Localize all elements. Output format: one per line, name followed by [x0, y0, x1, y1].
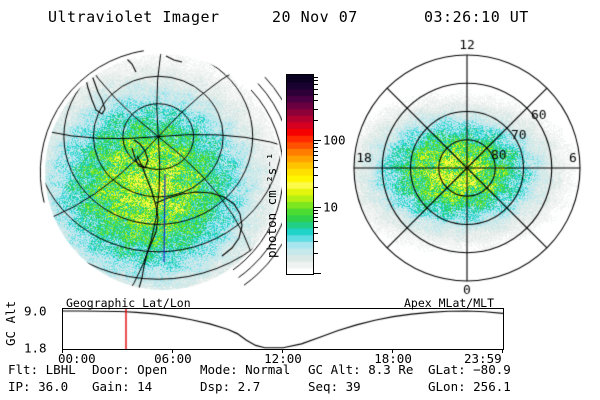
- parameter-value: Normal: [245, 362, 290, 377]
- colorbar-tick: [314, 241, 318, 242]
- parameter-cell: Flt: LBHL: [8, 362, 92, 379]
- colorbar-tick: [314, 140, 321, 141]
- parameter-value: −80.9: [473, 362, 511, 377]
- parameter-row: IP: 36.0Gain: 14Dsp: 2.7Seq: 39GLon: 256…: [8, 379, 511, 396]
- colorbar-axis-label: photon cm⁻²s⁻¹: [262, 90, 280, 260]
- parameter-cell: Door: Open: [92, 362, 200, 379]
- colorbar-tick: [314, 94, 318, 95]
- colorbar-tick: [314, 187, 318, 188]
- colorbar-tick: [314, 89, 318, 90]
- colorbar-tick: [314, 207, 321, 208]
- colorbar-tick: [314, 160, 318, 161]
- colorbar-tick: [314, 100, 318, 101]
- parameter-panel: Flt: LBHLDoor: OpenMode: NormalGC Alt: 8…: [8, 362, 511, 396]
- geographic-polar-plot: [0, 46, 282, 296]
- orbit-altitude-chart: [62, 308, 504, 350]
- colorbar-tick-label: 10: [323, 199, 338, 214]
- parameter-cell: Dsp: 2.7: [200, 379, 308, 396]
- parameter-value: 256.1: [473, 379, 511, 394]
- orbit-x-tick: [282, 349, 283, 353]
- colorbar-tick: [314, 167, 318, 168]
- colorbar-tick: [314, 77, 318, 78]
- orbit-x-tick: [502, 349, 503, 353]
- colorbar-tick-label: 100: [323, 133, 346, 148]
- parameter-label: Mode:: [200, 362, 245, 377]
- parameter-cell: Mode: Normal: [200, 362, 308, 379]
- colorbar-tick: [314, 147, 318, 148]
- parameter-cell: GLat: −80.9: [428, 362, 511, 379]
- colorbar-tick: [314, 151, 318, 152]
- parameter-value: 36.0: [38, 379, 68, 394]
- colorbar-gradient: [286, 74, 314, 275]
- colorbar-tick: [314, 217, 318, 218]
- orbit-x-tick: [392, 349, 393, 353]
- parameter-value: 2.7: [238, 379, 261, 394]
- orbit-x-tick: [62, 349, 63, 353]
- parameter-cell: IP: 36.0: [8, 379, 92, 396]
- colorbar-tick: [314, 233, 318, 234]
- orbit-y-tick-label: 1.8: [24, 341, 47, 356]
- parameter-table: Flt: LBHLDoor: OpenMode: NormalGC Alt: 8…: [8, 362, 511, 396]
- parameter-value: 39: [346, 379, 361, 394]
- parameter-value: 8.3 Re: [368, 362, 413, 377]
- colorbar-tick: [314, 253, 318, 254]
- colorbar-tick: [314, 155, 318, 156]
- parameter-label: Gain:: [92, 379, 137, 394]
- parameter-label: GC Alt:: [308, 362, 368, 377]
- parameter-label: GLat:: [428, 362, 473, 377]
- colorbar-tick: [314, 213, 318, 214]
- colorbar-axis-label-text: photon cm⁻²s⁻¹: [264, 153, 279, 258]
- orbit-x-tick: [172, 349, 173, 353]
- page-title: Ultraviolet Imager: [48, 8, 220, 26]
- parameter-value: LBHL: [46, 362, 76, 377]
- parameter-label: GLon:: [428, 379, 473, 394]
- orbit-axis-label-text: GC Alt: [3, 301, 18, 346]
- apex-mlat-mlt-plot: [342, 38, 592, 300]
- orbit-y-tick-label: 9.0: [24, 304, 47, 319]
- parameter-label: Seq:: [308, 379, 346, 394]
- parameter-row: Flt: LBHLDoor: OpenMode: NormalGC Alt: 8…: [8, 362, 511, 379]
- colorbar-tick: [314, 84, 318, 85]
- parameter-cell: GLon: 256.1: [428, 379, 511, 396]
- observation-date: 20 Nov 07: [272, 8, 358, 26]
- colorbar: 10010: [286, 74, 314, 275]
- parameter-value: 14: [137, 379, 152, 394]
- colorbar-tick: [314, 120, 318, 121]
- parameter-label: Dsp:: [200, 379, 238, 394]
- parameter-label: Door:: [92, 362, 137, 377]
- colorbar-tick: [314, 109, 318, 110]
- parameter-label: Flt:: [8, 362, 46, 377]
- parameter-cell: GC Alt: 8.3 Re: [308, 362, 428, 379]
- observation-time: 03:26:10 UT: [424, 8, 529, 26]
- uv-imager-display: Ultraviolet Imager 20 Nov 07 03:26:10 UT…: [0, 0, 600, 400]
- colorbar-tick: [314, 210, 318, 211]
- colorbar-tick: [314, 175, 318, 176]
- colorbar-tick: [314, 273, 321, 274]
- parameter-value: Open: [137, 362, 167, 377]
- colorbar-tick: [314, 221, 318, 222]
- parameter-cell: Seq: 39: [308, 379, 428, 396]
- colorbar-tick: [314, 227, 318, 228]
- colorbar-tick: [314, 143, 318, 144]
- orbit-axis-label: GC Alt: [2, 300, 20, 348]
- parameter-cell: Gain: 14: [92, 379, 200, 396]
- parameter-label: IP:: [8, 379, 38, 394]
- colorbar-tick: [314, 80, 318, 81]
